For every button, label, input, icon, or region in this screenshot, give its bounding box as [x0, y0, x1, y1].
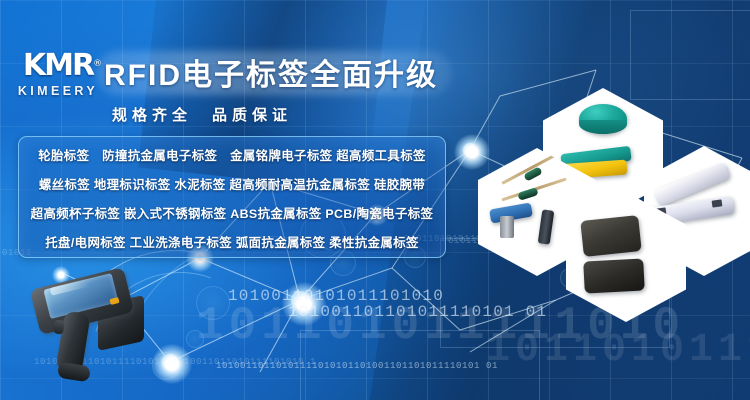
page-title: RFID电子标签全面升级 — [104, 50, 438, 94]
handheld-uhf-rfid-reader — [28, 272, 168, 384]
dark-rubber-tag-lower — [583, 258, 645, 293]
page-subtitle: 规格齐全 品质保证 — [112, 104, 292, 125]
round-teal-tag-side — [579, 120, 627, 134]
tag-row: 超高频杯子标签 嵌入式不锈钢标签 ABS抗金属标签 PCB/陶瓷电子标签 — [19, 200, 445, 229]
tag-row: 螺丝标签 地理标识标签 水泥标签 超高频耐高温抗金属标签 硅胶腕带 — [19, 171, 445, 200]
binary-text-mid: 101001101101011110101 01 — [288, 303, 547, 321]
glow-dot — [454, 134, 490, 170]
binary-text-large-top: 101101011111010 — [486, 328, 750, 373]
product-tag-list-panel: 轮胎标签 防撞抗金属电子标签 金属铭牌电子标签 超高频工具标签 螺丝标签 地理标… — [18, 136, 446, 258]
dark-pcb-tag-upper — [580, 215, 641, 257]
logo-mark: KMR ® — [23, 50, 93, 82]
rfid-promo-banner: 101101011111010 101101011111010 — [0, 0, 750, 400]
tag-row: 轮胎标签 防撞抗金属电子标签 金属铭牌电子标签 超高频工具标签 — [19, 142, 445, 171]
logo-wordmark: KIMEERY — [12, 84, 104, 98]
background-frame-right — [630, 10, 750, 100]
glass-tube-tag-2-capsule — [517, 187, 538, 201]
kimeery-logo[interactable]: KMR ® KIMEERY — [12, 50, 104, 108]
dark-bar-tag — [538, 209, 555, 244]
reader-grip-base — [57, 362, 91, 383]
tag-row: 托盘/电网标签 工业洗涤电子标签 弧面抗金属标签 柔性抗金属标签 — [19, 229, 445, 258]
logo-mark-text: KMR — [23, 48, 93, 83]
blue-screw-tag-shaft — [500, 216, 514, 238]
white-tag-chip-slot-2 — [712, 199, 723, 207]
